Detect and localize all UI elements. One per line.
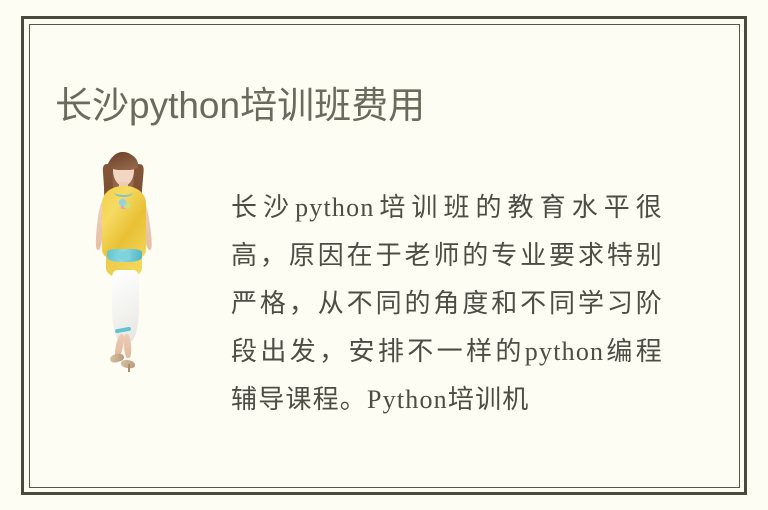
page-title: 长沙python培训班费用 [55,82,695,130]
woman-figure [88,150,158,372]
hair-fringe-shape [110,153,138,170]
illustration-image [88,150,158,372]
sash-knot-shape [119,251,131,261]
collar-trim-shape [114,188,133,197]
article-content: 长沙python培训班的教育水平很高，原因在于老师的专业要求特别严格，从不同的角… [55,140,675,390]
shoe-heel-shape [128,364,130,372]
article-card-page: 长沙python培训班费用 [0,0,768,510]
blouse-embroidery-shape [118,198,131,209]
article-body-text: 长沙python培训班的教育水平很高，原因在于老师的专业要求特别严格，从不同的角… [231,184,663,424]
